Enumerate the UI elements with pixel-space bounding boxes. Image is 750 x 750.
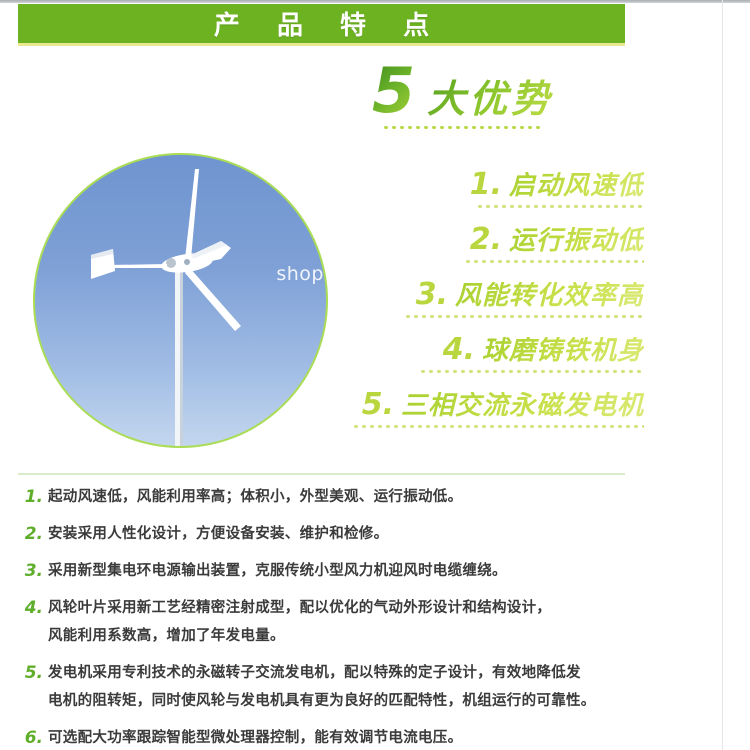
advantage-row: 1. 启动风速低 [340, 158, 650, 213]
advantage-label: 风能转化效率高 [455, 282, 644, 311]
description-number: 1. [22, 483, 48, 511]
advantage-dotted-underline [352, 425, 644, 428]
description-item: 1. 起动风速低，风能利用率高；体积小，外型美观、运行振动低。 [22, 483, 632, 511]
description-number: 5. [22, 659, 48, 687]
description-text-continued: 电机的阻转矩，同时使风轮与发电机具有更为良好的匹配特性，机组运行的可靠性。 [48, 687, 632, 715]
description-item: 2. 安装采用人性化设计，方便设备安装、维护和检修。 [22, 520, 632, 548]
advantages-list: 1. 启动风速低 2. 运行振动低 3. 风能转化效率高 4. 球磨铸铁机身 [340, 158, 650, 433]
advantage-label: 启动风速低 [509, 172, 644, 201]
top-edge-strip [0, 0, 750, 3]
advantage-number: 3. [416, 280, 455, 310]
description-text: 采用新型集电环电源输出装置，克服传统小型风力机迎风时电缆缠绕。 [48, 557, 632, 585]
advantage-dotted-underline [464, 260, 644, 263]
description-text: 发电机采用专利技术的永磁转子交流发电机，配以特殊的定子设计，有效地降低发 [48, 659, 632, 687]
advantage-label: 三相交流永磁发电机 [401, 392, 644, 421]
section-banner: 产 品 特 点 [18, 4, 625, 46]
advantage-row: 3. 风能转化效率高 [340, 268, 650, 323]
advantage-number: 1. [470, 170, 509, 200]
description-text: 风轮叶片采用新工艺经精密注射成型，配以优化的气动外形设计和结构设计， [48, 594, 632, 622]
description-text-block: 发电机采用专利技术的永磁转子交流发电机，配以特殊的定子设计，有效地降低发 电机的… [48, 659, 632, 715]
description-text: 安装采用人性化设计，方便设备安装、维护和检修。 [48, 520, 632, 548]
description-item: 6. 可选配大功率跟踪智能型微处理器控制，能有效调节电流电压。 [22, 724, 632, 750]
advantages-headline-text: 大优势 [427, 68, 553, 123]
description-text: 起动风速低，风能利用率高；体积小，外型美观、运行振动低。 [48, 483, 632, 511]
product-feature-page: 产 品 特 点 shop 5 [0, 0, 750, 750]
advantage-dotted-underline [404, 315, 644, 318]
advantage-row: 2. 运行振动低 [340, 213, 650, 268]
description-number: 6. [22, 724, 48, 750]
description-number: 4. [22, 594, 48, 622]
advantage-number: 4. [443, 335, 482, 365]
advantages-headline: 5 大优势 [372, 60, 553, 123]
description-text: 可选配大功率跟踪智能型微处理器控制，能有效调节电流电压。 [48, 724, 632, 750]
photo-watermark: shop [276, 263, 324, 285]
description-number: 2. [22, 520, 48, 548]
headline-dotted-underline [382, 126, 542, 129]
description-list: 1. 起动风速低，风能利用率高；体积小，外型美观、运行振动低。 2. 安装采用人… [22, 483, 632, 750]
right-page-rule [722, 0, 723, 750]
description-text-block: 风轮叶片采用新工艺经精密注射成型，配以优化的气动外形设计和结构设计， 风能利用系… [48, 594, 632, 650]
advantage-label: 运行振动低 [509, 227, 644, 256]
description-text-continued: 风能利用系数高，增加了年发电量。 [48, 622, 632, 650]
advantage-number: 2. [470, 225, 509, 255]
advantage-dotted-underline [419, 370, 644, 373]
advantage-label: 球磨铸铁机身 [482, 337, 644, 366]
wind-turbine-photo: shop [33, 153, 328, 448]
advantages-count: 5 [372, 60, 427, 122]
description-item: 4. 风轮叶片采用新工艺经精密注射成型，配以优化的气动外形设计和结构设计， 风能… [22, 594, 632, 650]
advantage-dotted-underline [476, 205, 644, 208]
advantage-number: 5. [362, 390, 401, 420]
section-divider [18, 473, 625, 475]
description-item: 5. 发电机采用专利技术的永磁转子交流发电机，配以特殊的定子设计，有效地降低发 … [22, 659, 632, 715]
wind-turbine-illustration [35, 155, 326, 446]
page-title: 产 品 特 点 [200, 5, 443, 42]
description-item: 3. 采用新型集电环电源输出装置，克服传统小型风力机迎风时电缆缠绕。 [22, 557, 632, 585]
advantage-row: 5. 三相交流永磁发电机 [340, 378, 650, 433]
advantage-row: 4. 球磨铸铁机身 [340, 323, 650, 378]
description-number: 3. [22, 557, 48, 585]
